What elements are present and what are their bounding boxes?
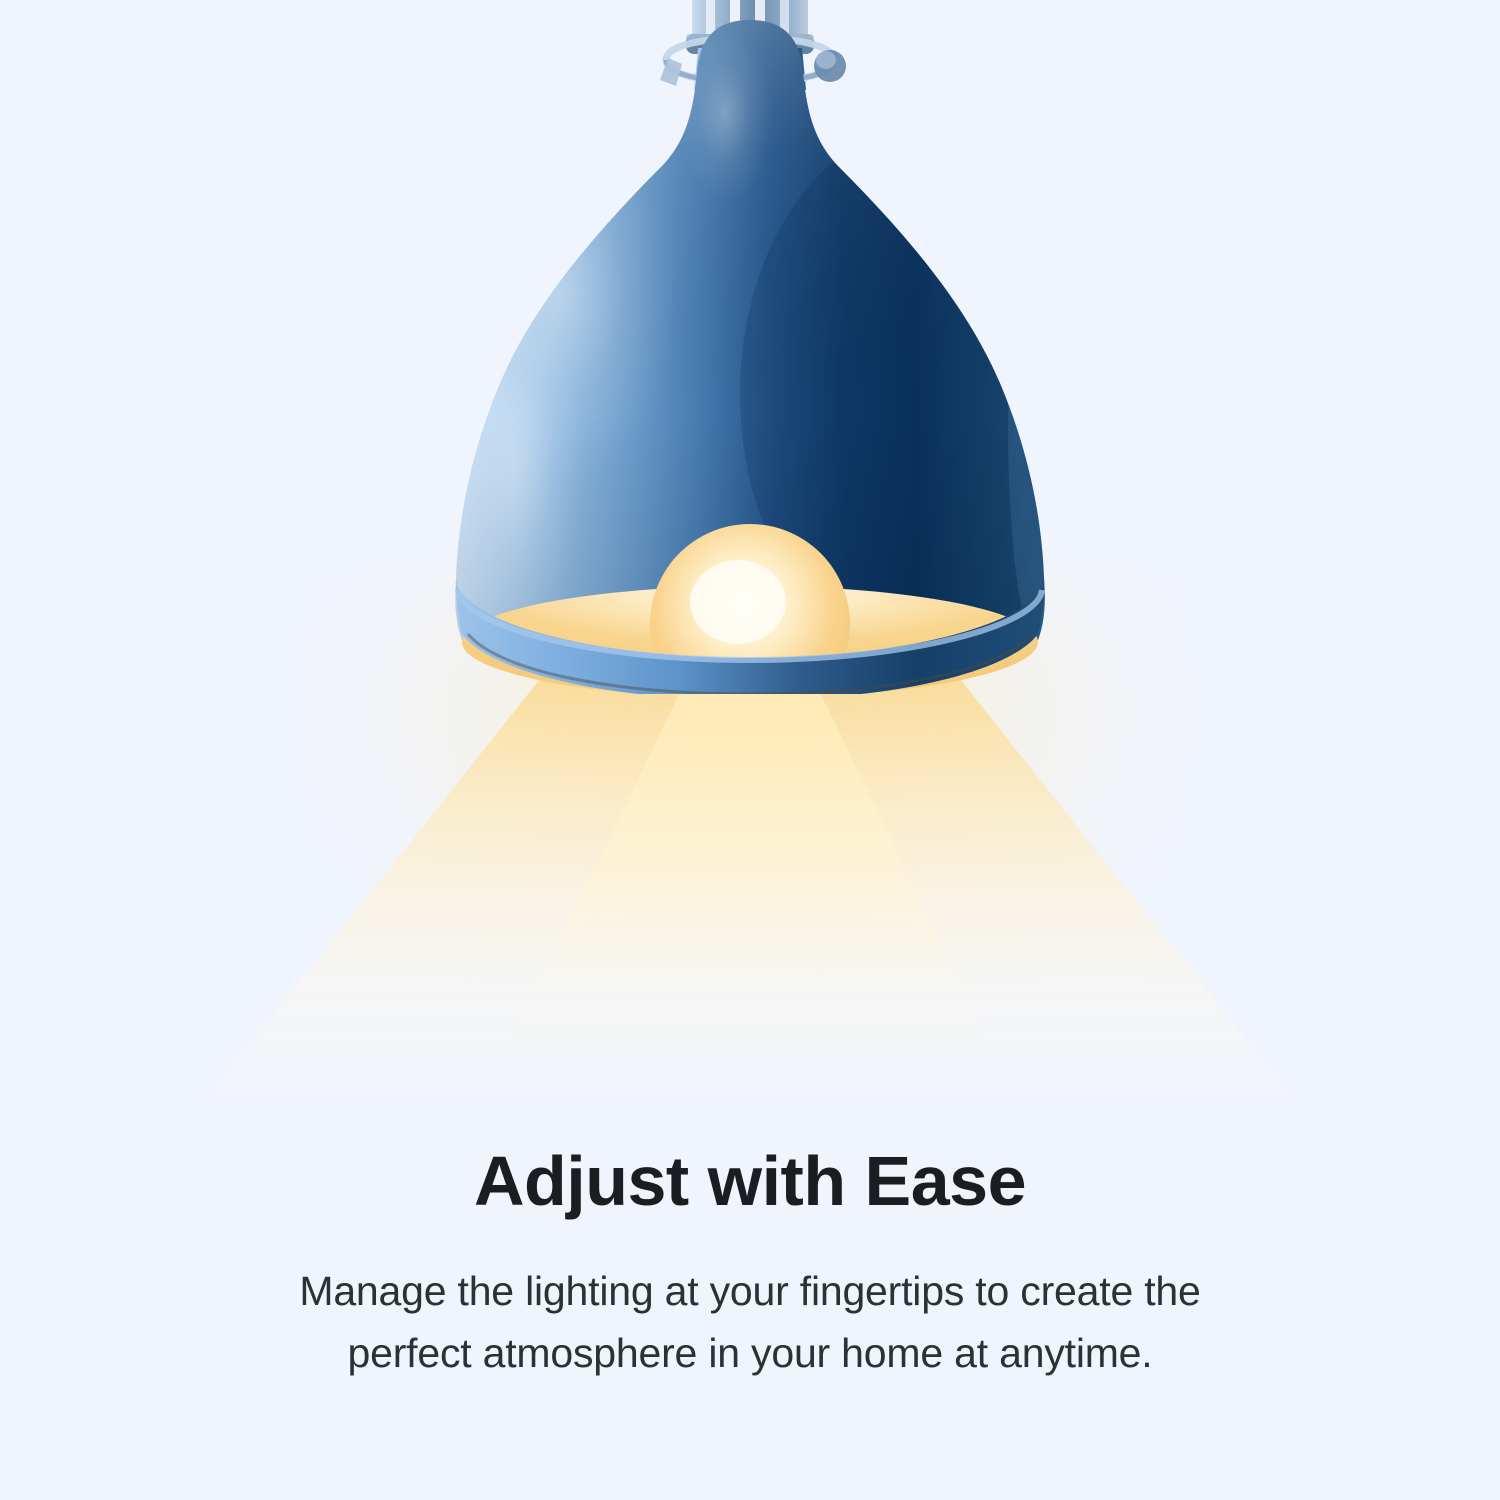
pendant-lamp [230,0,1270,694]
subtitle-line-1: Manage the lighting at your fingertips t… [0,1260,1500,1322]
page-title: Adjust with Ease [0,1120,1500,1216]
caption-block: Adjust with Ease Manage the lighting at … [0,1120,1500,1385]
hero-illustration [0,0,1500,1120]
marketing-hero-page: Adjust with Ease Manage the lighting at … [0,0,1500,1500]
page-subtitle: Manage the lighting at your fingertips t… [0,1260,1500,1385]
subtitle-line-2: perfect atmosphere in your home at anyti… [0,1322,1500,1384]
